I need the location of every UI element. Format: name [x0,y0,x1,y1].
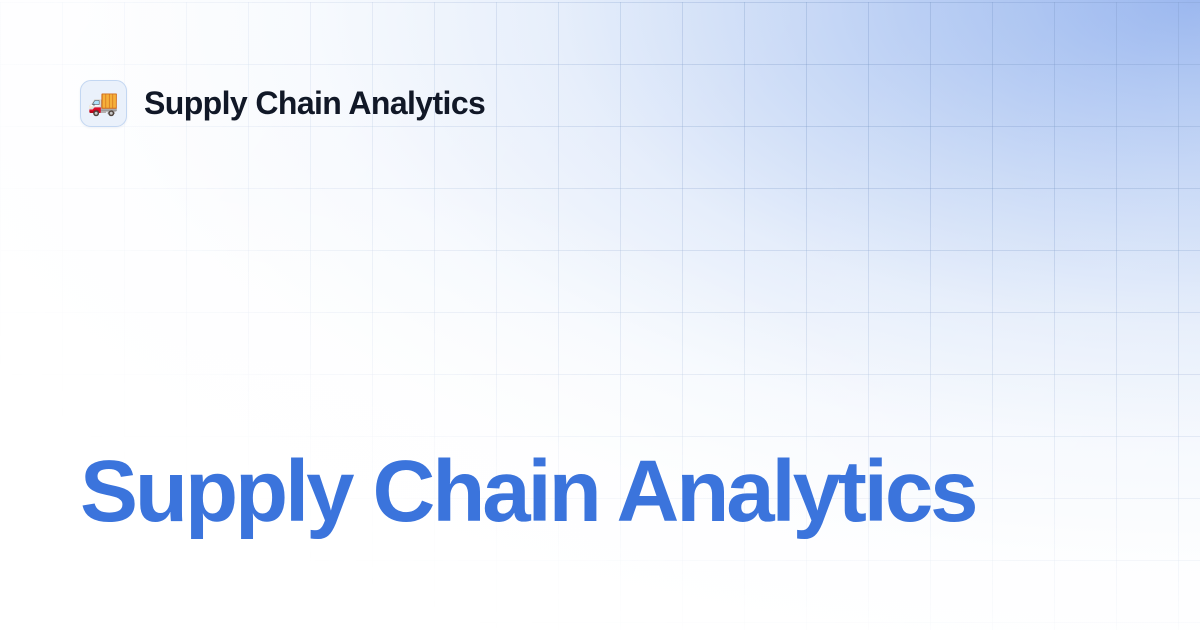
page-title: Supply Chain Analytics [80,448,1140,535]
brand-name-label: Supply Chain Analytics [144,85,485,122]
banner-content: 🚚 Supply Chain Analytics Supply Chain An… [0,0,1200,630]
brand-header: 🚚 Supply Chain Analytics [80,80,485,127]
og-banner: 🚚 Supply Chain Analytics Supply Chain An… [0,0,1200,630]
brand-logo-badge: 🚚 [80,80,127,127]
delivery-truck-icon: 🚚 [88,91,119,116]
